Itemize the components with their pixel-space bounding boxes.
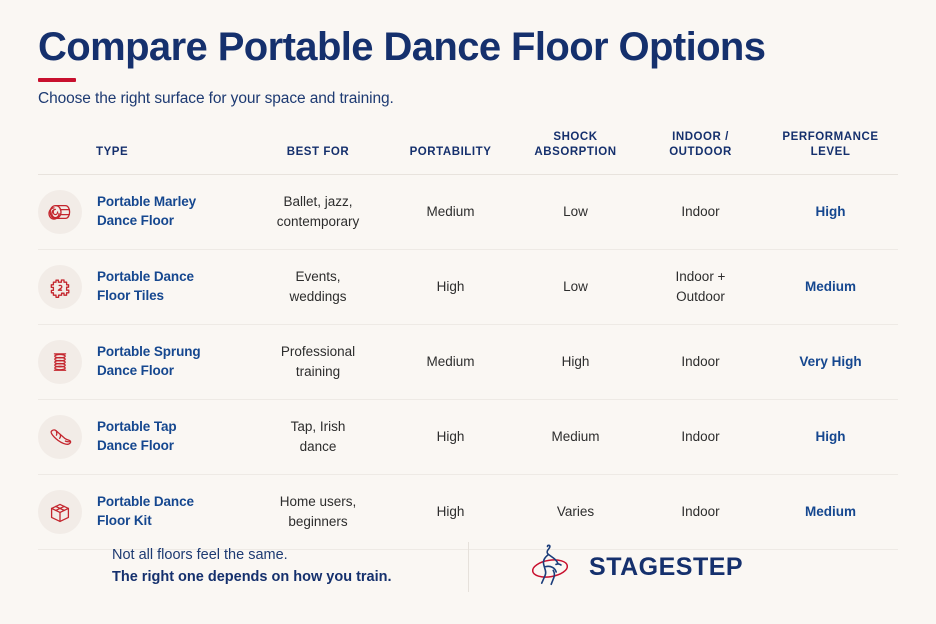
page-title: Compare Portable Dance Floor Options bbox=[38, 26, 898, 69]
header: Compare Portable Dance Floor Options Cho… bbox=[38, 0, 898, 108]
cell-best-for: Events, weddings bbox=[248, 249, 388, 324]
cell-shock-absorption: Medium bbox=[513, 399, 638, 474]
page-subtitle: Choose the right surface for your space … bbox=[38, 90, 898, 108]
cell-best-for: Ballet, jazz, contemporary bbox=[248, 174, 388, 249]
cell-indoor-outdoor: Indoor bbox=[638, 399, 763, 474]
table-header: TYPE BEST FOR PORTABILITY SHOCK ABSORPTI… bbox=[38, 130, 898, 174]
cell-portability: Medium bbox=[388, 324, 513, 399]
column-header-type: TYPE bbox=[38, 130, 248, 174]
brand-name: STAGESTEP bbox=[589, 553, 743, 582]
footer-tagline-line2: The right one depends on how you train. bbox=[112, 567, 392, 589]
box-kit-icon bbox=[38, 490, 82, 534]
dancer-logo-icon bbox=[527, 540, 575, 595]
table-row: Portable Marley Dance Floor Ballet, jazz… bbox=[38, 174, 898, 249]
table-body: Portable Marley Dance Floor Ballet, jazz… bbox=[38, 174, 898, 549]
brand-lockup: STAGESTEP bbox=[527, 540, 743, 595]
table-header-row: TYPE BEST FOR PORTABILITY SHOCK ABSORPTI… bbox=[38, 130, 898, 174]
cell-performance-level: Medium bbox=[763, 249, 898, 324]
footer-tagline: Not all floors feel the same. The right … bbox=[112, 545, 392, 589]
type-label: Portable Sprung Dance Floor bbox=[97, 343, 201, 379]
column-header-indoor-outdoor: INDOOR / OUTDOOR bbox=[638, 130, 763, 174]
column-header-performance-level: PERFORMANCE LEVEL bbox=[763, 130, 898, 174]
table-row: Portable Dance Floor Tiles Events, weddi… bbox=[38, 249, 898, 324]
footer-tagline-line1: Not all floors feel the same. bbox=[112, 545, 392, 567]
type-label: Portable Marley Dance Floor bbox=[97, 193, 196, 229]
cell-best-for: Professional training bbox=[248, 324, 388, 399]
cell-indoor-outdoor: Indoor bbox=[638, 174, 763, 249]
table-row: Portable Sprung Dance Floor Professional… bbox=[38, 324, 898, 399]
footer-divider bbox=[468, 542, 470, 592]
marley-roll-icon bbox=[38, 190, 82, 234]
cell-indoor-outdoor: Indoor bbox=[638, 324, 763, 399]
cell-shock-absorption: High bbox=[513, 324, 638, 399]
column-header-shock-absorption: SHOCK ABSORPTION bbox=[513, 130, 638, 174]
cell-best-for: Tap, Irish dance bbox=[248, 399, 388, 474]
cell-shock-absorption: Low bbox=[513, 174, 638, 249]
cell-performance-level: Very High bbox=[763, 324, 898, 399]
comparison-table: TYPE BEST FOR PORTABILITY SHOCK ABSORPTI… bbox=[38, 130, 898, 549]
cell-performance-level: High bbox=[763, 399, 898, 474]
footer: Not all floors feel the same. The right … bbox=[38, 534, 898, 600]
type-label: Portable Dance Floor Kit bbox=[97, 493, 194, 529]
cell-performance-level: High bbox=[763, 174, 898, 249]
accent-bar bbox=[38, 78, 76, 82]
table-row: Portable Tap Dance Floor Tap, Irish danc… bbox=[38, 399, 898, 474]
cell-type: Portable Dance Floor Tiles bbox=[38, 249, 248, 324]
cell-type: Portable Marley Dance Floor bbox=[38, 174, 248, 249]
cell-indoor-outdoor: Indoor + Outdoor bbox=[638, 249, 763, 324]
cell-type: Portable Sprung Dance Floor bbox=[38, 324, 248, 399]
cell-portability: High bbox=[388, 249, 513, 324]
cell-shock-absorption: Low bbox=[513, 249, 638, 324]
cell-portability: High bbox=[388, 399, 513, 474]
floor-tile-icon bbox=[38, 265, 82, 309]
column-header-portability: PORTABILITY bbox=[388, 130, 513, 174]
cell-type: Portable Tap Dance Floor bbox=[38, 399, 248, 474]
type-label: Portable Dance Floor Tiles bbox=[97, 268, 194, 304]
column-header-best-for: BEST FOR bbox=[248, 130, 388, 174]
spring-coil-icon bbox=[38, 340, 82, 384]
cell-portability: Medium bbox=[388, 174, 513, 249]
tap-shoe-icon bbox=[38, 415, 82, 459]
infographic-page: Compare Portable Dance Floor Options Cho… bbox=[0, 0, 936, 624]
type-label: Portable Tap Dance Floor bbox=[97, 418, 177, 454]
